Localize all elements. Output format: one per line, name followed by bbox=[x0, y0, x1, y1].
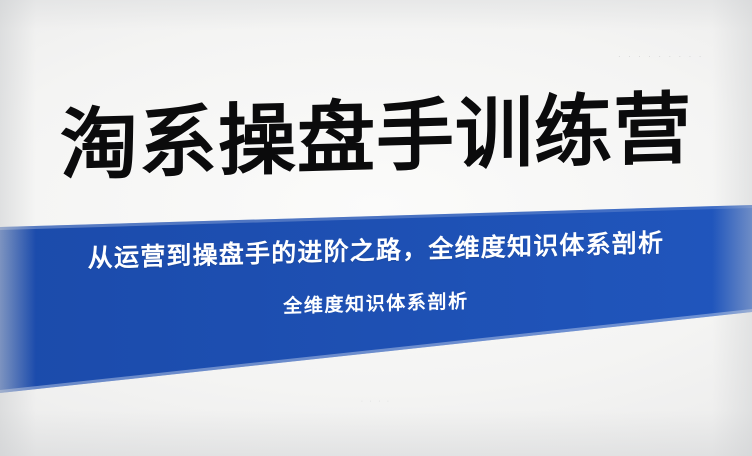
watermark-top: · · · · · · · · · bbox=[618, 52, 704, 61]
poster-headline: 淘系操盘手训练营 bbox=[0, 86, 752, 189]
watermark-bottom: · · · · bbox=[361, 398, 392, 405]
course-poster: 淘系操盘手训练营 从运营到操盘手的进阶之路，全维度知识体系剖析 全维度知识体系剖… bbox=[0, 0, 752, 456]
